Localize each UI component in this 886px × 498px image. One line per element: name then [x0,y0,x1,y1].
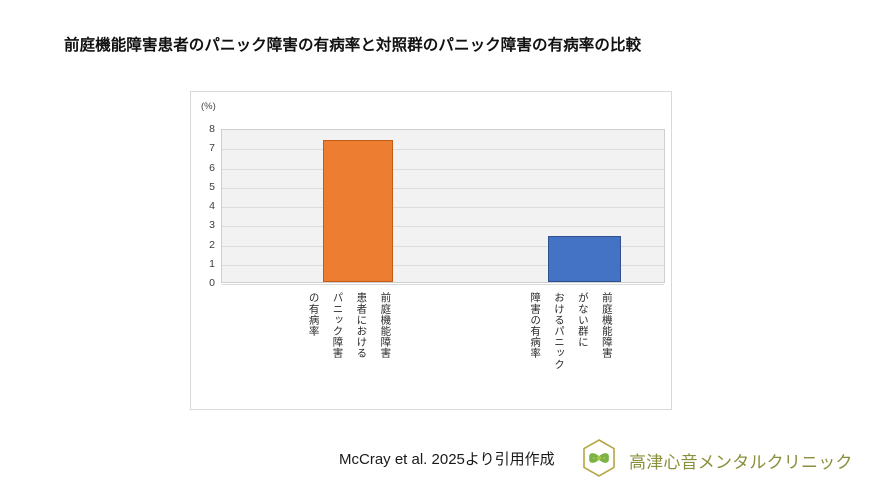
y-axis-tick-label: 1 [209,259,215,270]
category-label-column: パニック障害 [330,292,345,359]
plot-area [221,129,665,283]
y-axis-tick-label: 2 [209,239,215,250]
category-label-column: 前庭機能障害 [377,292,392,359]
chart-container: (%) 876543210 前庭機能障害患者におけるパニック障害の有病率 前庭機… [190,91,672,410]
y-axis-tick-label: 6 [209,162,215,173]
y-axis-tick-label: 3 [209,220,215,231]
gridline [222,169,664,170]
y-axis-tick-label: 5 [209,182,215,193]
y-axis-tick-label: 4 [209,201,215,212]
category-label-column: の有病率 [306,292,321,359]
gridline [222,226,664,227]
category-label-column: 前庭機能障害 [599,292,614,370]
y-axis: 876543210 [191,129,219,283]
category-label-vestibular-disorder-group: 前庭機能障害患者におけるパニック障害の有病率 [289,292,409,359]
clinic-branding: 高津心音メンタルクリニック [578,437,853,484]
y-axis-tick-label: 0 [209,278,215,289]
gridline [222,149,664,150]
category-label-column: 障害の有病率 [527,292,542,370]
category-label-column: がない群に [575,292,590,370]
bar-vestibular-disorder-group [323,140,393,282]
gridline [222,188,664,189]
clover-hexagon-logo-icon [578,437,620,484]
y-axis-unit-label: (%) [201,101,216,112]
y-axis-tick-label: 8 [209,124,215,135]
bar-control-group [548,236,621,282]
gridline [222,284,664,285]
citation-text: McCray et al. 2025より引用作成 [339,448,555,469]
clinic-name: 高津心音メンタルクリニック [629,448,853,473]
category-label-column: 患者における [354,292,369,359]
page-title: 前庭機能障害患者のパニック障害の有病率と対照群のパニック障害の有病率の比較 [64,33,641,55]
category-label-control-group: 前庭機能障害がない群におけるパニック障害の有病率 [509,292,632,370]
y-axis-tick-label: 7 [209,143,215,154]
gridline [222,207,664,208]
category-label-column: おけるパニック [551,292,566,370]
